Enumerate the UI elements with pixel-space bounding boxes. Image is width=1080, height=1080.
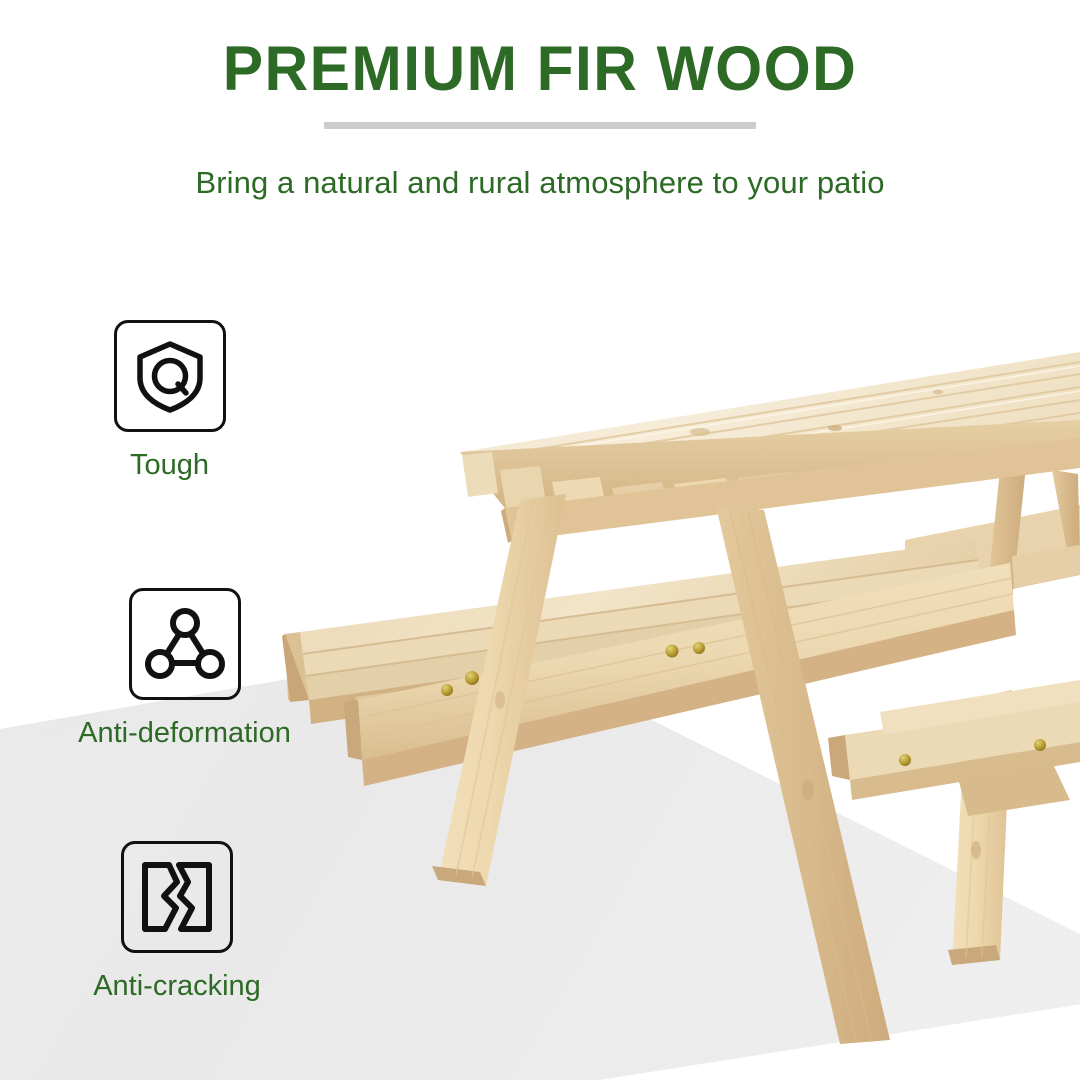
wood-knot [933,390,943,395]
feature-item-anti-deformation: Anti-deformation [62,588,307,750]
wood-knot [828,425,842,431]
triangle-nodes-icon [145,606,225,682]
product-marketing-image: PREMIUM FIR WOOD Bring a natural and rur… [0,0,1080,1080]
feature-icon-box [121,841,233,953]
brass-screw [1034,739,1046,751]
header-block: PREMIUM FIR WOOD Bring a natural and rur… [0,0,1080,201]
wood-knot [690,428,710,436]
brass-screw [441,684,453,696]
wood-knot [802,780,814,800]
brass-screw [465,671,479,685]
feature-item-anti-cracking: Anti-cracking [62,841,292,1003]
feature-label: Tough [62,449,277,482]
feature-label: Anti-cracking [62,970,292,1003]
brass-screw [899,754,911,766]
page-title: PREMIUM FIR WOOD [22,0,1059,102]
feature-label: Anti-deformation [62,717,307,750]
cracked-panel-icon [138,858,216,936]
feature-icon-box [129,588,241,700]
brass-screw [666,645,679,658]
bench-right-lower [828,680,1080,816]
shield-quality-icon [131,337,209,415]
page-subtitle: Bring a natural and rural atmosphere to … [0,129,1080,201]
brass-screw [693,642,705,654]
wood-knot [495,691,505,709]
feature-icon-box [114,320,226,432]
title-divider [324,122,756,129]
wood-knot [971,841,981,859]
feature-item-tough: Tough [62,320,277,482]
